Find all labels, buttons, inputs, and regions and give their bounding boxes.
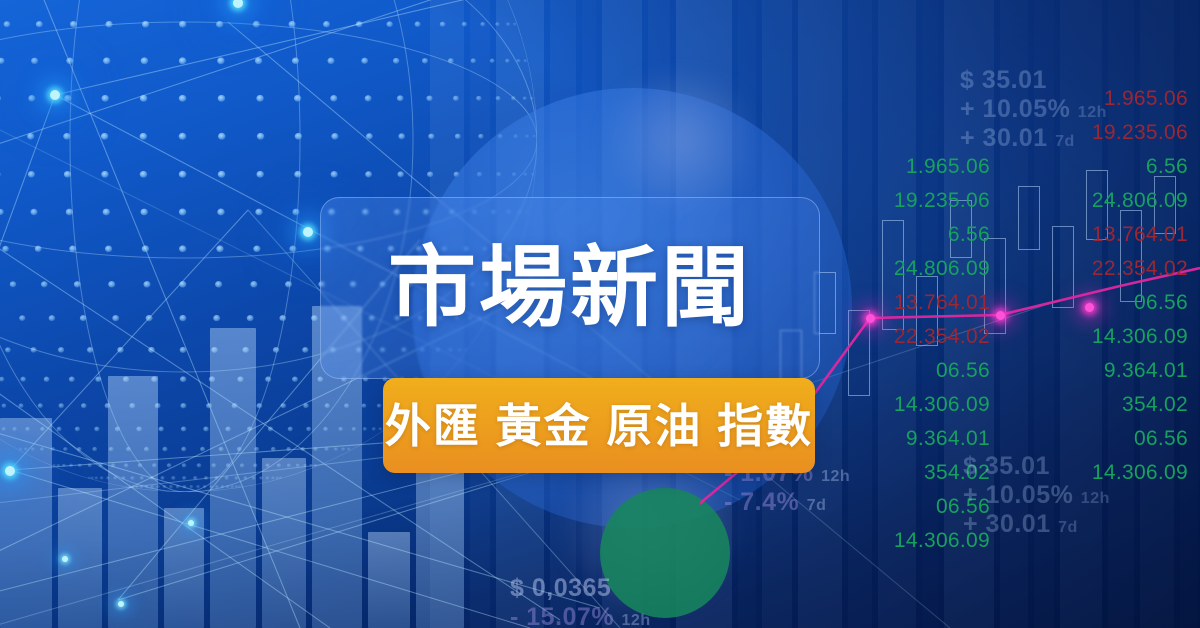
quote-price: $ 0,0365 [510,574,651,603]
ticker-value: 19.235.06 [830,184,990,218]
ticker-value: 9.364.01 [1010,354,1188,388]
ticker-value: 22.354.02 [830,320,990,354]
trend-line-node [996,311,1005,320]
quote-change-12h: + 10.05% 12h [963,481,1110,510]
page-title: 市場新聞 [321,244,819,332]
ticker-value: 13.764.01 [1010,218,1188,252]
ticker-value: 1.965.06 [830,150,990,184]
quote-change-7d: - 7.4% 7d [724,488,850,517]
quote-block-bottom-right: $ 35.01 + 10.05% 12h + 30.01 7d [963,452,1110,539]
decorative-soft-blob [590,75,770,205]
quote-change-12h: + 10.05% 12h [960,95,1107,124]
quote-block-bottom-left: $ 0,0365 - 15.07% 12h - 12.4% 7d [510,574,651,628]
ticker-value: 06.56 [1010,286,1188,320]
quote-change-7d: + 30.01 7d [960,124,1107,153]
banner-stage: 1.965.0619.235.066.5624.806.0913.764.012… [0,0,1200,628]
headline-card: 市場新聞 [320,197,820,379]
category-badge-label: 外匯 黃金 原油 指數 [385,403,813,449]
network-node-glow [188,520,194,526]
quote-price: $ 35.01 [963,452,1110,481]
ticker-value: 14.306.09 [1010,320,1188,354]
ticker-value: 6.56 [830,218,990,252]
ticker-value: 06.56 [830,354,990,388]
ticker-value: 354.02 [1010,388,1188,422]
ticker-value: 6.56 [1010,150,1188,184]
ticker-value: 13.764.01 [830,286,990,320]
network-node-glow [118,601,124,607]
network-node-glow [5,466,15,476]
quote-change-7d: + 30.01 7d [963,510,1110,539]
ticker-value: 22.354.02 [1010,252,1188,286]
network-node-glow [62,556,68,562]
quote-change-12h: - 15.07% 12h [510,603,651,628]
category-badge[interactable]: 外匯 黃金 原油 指數 [383,378,815,473]
ticker-value: 14.306.09 [830,388,990,422]
quote-price: $ 35.01 [960,66,1107,95]
ticker-value: 24.806.09 [830,252,990,286]
network-node-glow [50,90,60,100]
network-node-glow [303,227,313,237]
quote-block-top-right: $ 35.01 + 10.05% 12h + 30.01 7d [960,66,1107,153]
ticker-value: 24.806.09 [1010,184,1188,218]
